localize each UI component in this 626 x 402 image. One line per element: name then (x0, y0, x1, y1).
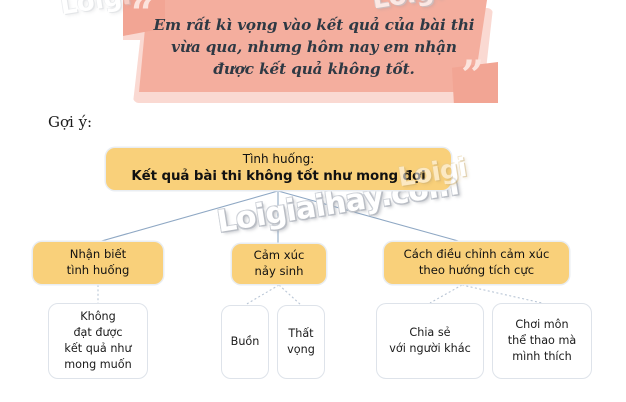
hint-label: Gợi ý: (48, 113, 92, 131)
diagram-node-leaf-khong-dat-duoc-ket-qua[interactable]: Không đạt được kết quả như mong muốn (48, 303, 148, 379)
leaf-5-line-1: Chơi môn (515, 317, 568, 333)
leaf-5-line-2: thể thao mà (508, 333, 576, 349)
diagram-node-branch-cam-xuc-nay-sinh[interactable]: Cảm xúc nảy sinh (232, 244, 326, 284)
branch-3-line-1: Cách điều chỉnh cảm xúc (404, 247, 550, 263)
quote-banner: “ ” Em rất kì vọng vào kết quả của bài t… (123, 0, 503, 103)
leaf-1-line-1: Không (80, 309, 115, 325)
diagram-node-leaf-choi-mon-the-thao[interactable]: Chơi môn thể thao mà mình thích (492, 303, 592, 379)
branch-2-line-1: Cảm xúc (254, 248, 305, 264)
branch-2-line-2: nảy sinh (255, 264, 304, 280)
diagram-node-branch-cach-dieu-chinh-cam-xuc[interactable]: Cách điều chỉnh cảm xúc theo hướng tích … (384, 242, 569, 284)
diagram-node-leaf-buon[interactable]: Buồn (221, 305, 269, 379)
branch-1-line-1: Nhận biết (70, 247, 126, 263)
leaf-1-line-4: mong muốn (64, 357, 131, 373)
diagram-node-root[interactable]: Tình huống: Kết quả bài thi không tốt nh… (106, 148, 451, 190)
root-subtitle: Tình huống: (243, 152, 315, 168)
diagram-node-branch-nhan-biet-tinh-huong[interactable]: Nhận biết tình huống (33, 242, 163, 284)
quote-line-3: được kết quả không tốt. (149, 58, 479, 80)
diagram-node-leaf-that-vong[interactable]: Thất vọng (277, 305, 325, 379)
diagram-node-leaf-chia-se-voi-nguoi-khac[interactable]: Chia sẻ với người khác (376, 303, 484, 379)
page-canvas: “ ” Em rất kì vọng vào kết quả của bài t… (0, 0, 626, 402)
leaf-4-line-2: với người khác (389, 341, 471, 357)
branch-1-line-2: tình huống (67, 263, 130, 279)
root-title: Kết quả bài thi không tốt như mong đợi (131, 168, 425, 186)
leaf-2-line-1: Buồn (231, 334, 260, 350)
watermark-top-left: Loigi (58, 0, 133, 21)
quote-line-1: Em rất kì vọng vào kết quả của bài thi (149, 14, 479, 36)
leaf-5-line-3: mình thích (512, 349, 572, 365)
leaf-1-line-3: kết quả như (64, 341, 131, 357)
leaf-3-line-1: Thất (288, 326, 313, 342)
leaf-4-line-1: Chia sẻ (409, 325, 450, 341)
leaf-1-line-2: đạt được (73, 325, 122, 341)
branch-3-line-2: theo hướng tích cực (419, 263, 534, 279)
quote-line-2: vừa qua, nhưng hôm nay em nhận (149, 36, 479, 58)
quote-banner-text: Em rất kì vọng vào kết quả của bài thi v… (149, 14, 479, 80)
leaf-3-line-2: vọng (287, 342, 315, 358)
